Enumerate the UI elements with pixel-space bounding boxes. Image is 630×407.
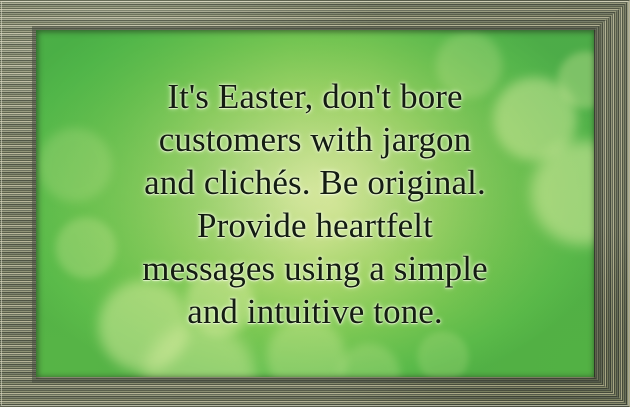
bokeh-circle <box>96 278 192 374</box>
canvas-color-wash <box>36 30 594 377</box>
bokeh-circle <box>416 330 470 377</box>
bokeh-circle <box>54 216 118 280</box>
bokeh-circle <box>336 342 402 377</box>
framed-quote-image: It's Easter, don't bore customers with j… <box>0 0 630 407</box>
bokeh-circle <box>434 30 504 100</box>
bokeh-circle <box>556 50 594 110</box>
bokeh-circle <box>528 138 594 248</box>
bokeh-circle <box>264 316 348 377</box>
bokeh-circle <box>184 266 256 338</box>
picture-canvas <box>36 30 594 377</box>
bokeh-circle <box>491 75 579 163</box>
bokeh-circle <box>36 126 114 204</box>
bokeh-circle <box>140 320 260 377</box>
